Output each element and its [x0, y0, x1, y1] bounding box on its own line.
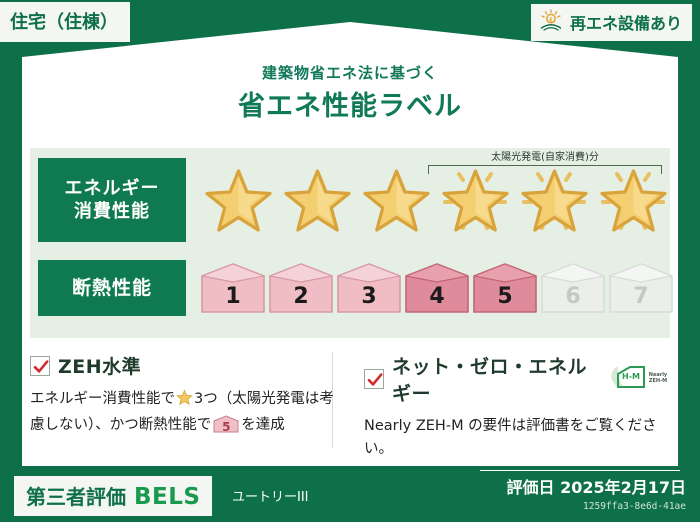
energy-performance-label: エネルギー 消費性能: [38, 158, 186, 242]
net-zero-heading: ネット・ゼロ・エネルギー H-M Nearly ZEH-M: [364, 352, 670, 406]
insulation-level-value: 7: [608, 284, 674, 309]
svg-text:H-M: H-M: [622, 372, 640, 381]
net-zero-title: ネット・ゼロ・エネルギー: [392, 352, 592, 406]
label-subtitle: 建築物省エネ法に基づく: [0, 62, 700, 83]
evaluation-date-label: 評価日: [506, 478, 554, 497]
solar-generation-annotation: 太陽光発電(自家消費)分: [422, 148, 668, 174]
inline-star-icon: [176, 389, 193, 414]
insulation-level-value: 2: [268, 284, 334, 309]
bels-badge: 第三者評価 BELS: [14, 476, 212, 516]
insulation-level-list: 1 2 3 4 5 6 7: [200, 262, 676, 314]
building-name: ユートリーIII: [232, 486, 309, 505]
zeh-text-part3: を達成: [241, 417, 285, 433]
evaluation-id: 1259ffa3-8e6d-41ae: [506, 501, 686, 512]
net-zero-description: Nearly ZEH-M の要件は評価書をご覧ください。: [364, 415, 670, 462]
insulation-level-7: 7: [608, 262, 674, 314]
performance-band: 太陽光発電(自家消費)分 エネルギー 消費性能: [30, 148, 670, 338]
renewable-equipment-badge: E 再エネ設備あり: [531, 4, 692, 41]
star-base: [200, 162, 277, 238]
energy-label-line2: 消費性能: [74, 200, 150, 223]
insulation-level-1: 1: [200, 262, 266, 314]
insulation-level-value: 5: [472, 284, 538, 309]
insulation-level-6: 6: [540, 262, 606, 314]
footer-rule: [480, 470, 680, 471]
solar-bracket: [428, 165, 662, 174]
label-title: 省エネ性能ラベル: [0, 84, 700, 123]
insulation-level-2: 2: [268, 262, 334, 314]
zeh-text-part1: エネルギー消費性能で: [30, 391, 175, 407]
zeh-criterion: ZEH水準 エネルギー消費性能で3つ（太陽光発電は考慮しない）、かつ断熱性能で5…: [30, 352, 336, 462]
zeh-m-logo: H-M Nearly ZEH-M: [606, 362, 670, 396]
net-zero-criterion: ネット・ゼロ・エネルギー H-M Nearly ZEH-M Nearly ZEH…: [336, 352, 670, 462]
solar-annotation-text: 太陽光発電(自家消費)分: [422, 148, 668, 163]
energy-label-line1: エネルギー: [65, 177, 160, 200]
insulation-level-5: 5: [472, 262, 538, 314]
inline-insulation-badge: 5: [213, 415, 239, 433]
zeh-description: エネルギー消費性能で3つ（太陽光発電は考慮しない）、かつ断熱性能で5を達成: [30, 388, 336, 438]
insulation-level-4: 4: [404, 262, 470, 314]
evaluation-date: 評価日 2025年2月17日: [506, 474, 686, 498]
insulation-label-text: 断熱性能: [72, 276, 152, 301]
inline-badge-value: 5: [213, 418, 239, 437]
svg-text:E: E: [549, 17, 553, 23]
zeh-title: ZEH水準: [58, 352, 141, 379]
insulation-level-value: 1: [200, 284, 266, 309]
criteria-section: ZEH水準 エネルギー消費性能で3つ（太陽光発電は考慮しない）、かつ断熱性能で5…: [30, 352, 670, 462]
star-base: [279, 162, 356, 238]
insulation-level-value: 4: [404, 284, 470, 309]
zeh-heading: ZEH水準: [30, 352, 336, 379]
solar-sun-icon: E: [539, 9, 563, 35]
dwelling-type-tag: 住宅（住棟）: [0, 2, 130, 42]
renewable-equipment-label: 再エネ設備あり: [570, 10, 682, 34]
insulation-level-value: 3: [336, 284, 402, 309]
dwelling-type-label: 住宅（住棟）: [10, 12, 118, 33]
insulation-level-value: 6: [540, 284, 606, 309]
net-zero-checkbox: [364, 369, 384, 389]
bels-label: BELS: [134, 484, 200, 510]
insulation-level-3: 3: [336, 262, 402, 314]
evaluation-info: 評価日 2025年2月17日 1259ffa3-8e6d-41ae: [506, 474, 686, 512]
evaluation-date-value: 2025年2月17日: [560, 478, 686, 497]
svg-text:ZEH-M: ZEH-M: [649, 378, 667, 384]
insulation-performance-label: 断熱性能: [38, 260, 186, 316]
footer: 第三者評価 BELS ユートリーIII 評価日 2025年2月17日 1259f…: [0, 466, 700, 522]
third-party-label: 第三者評価: [26, 481, 126, 510]
insulation-performance-row: 断熱性能 1 2 3 4 5 6 7: [38, 260, 676, 316]
zeh-checkbox: [30, 356, 50, 376]
